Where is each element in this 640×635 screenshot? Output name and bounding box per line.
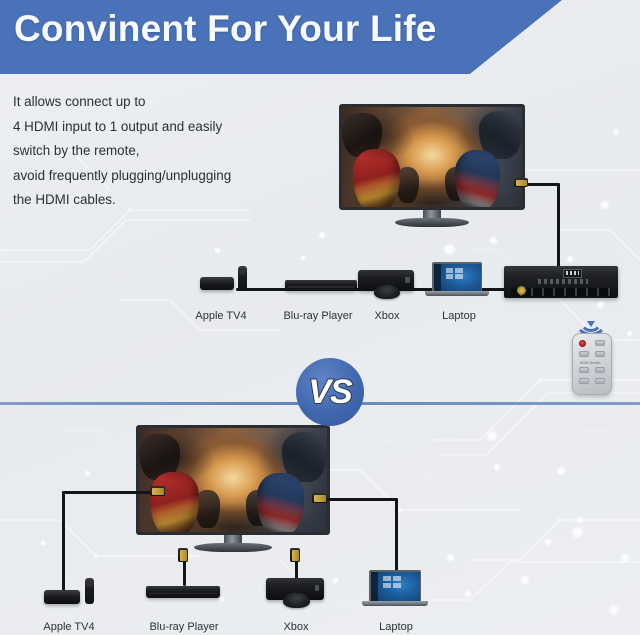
laptop-tile xyxy=(455,274,463,279)
wifi-signal-icon xyxy=(574,302,608,328)
laptop-taskbar xyxy=(434,264,442,291)
television-top xyxy=(339,104,525,228)
remote-button[interactable] xyxy=(595,378,605,384)
description-line: switch by the remote, xyxy=(13,139,333,164)
xbox-controller-icon xyxy=(283,593,310,608)
vs-badge: VS xyxy=(296,358,364,426)
laptop-tile xyxy=(446,274,454,279)
hdmi-cable-tv-to-switch xyxy=(557,183,560,267)
apple-tv-remote-icon xyxy=(85,578,94,604)
laptop-tile xyxy=(393,576,401,581)
hdmi-connector xyxy=(312,493,327,503)
laptop-tile xyxy=(446,268,454,273)
laptop-icon xyxy=(432,262,482,292)
bluray-player-icon xyxy=(146,586,220,598)
switch-silkscreen-text xyxy=(538,279,588,284)
hdmi-connector xyxy=(178,548,188,562)
hdmi-cable-laptop xyxy=(322,498,398,501)
hdmi-switch-box xyxy=(504,266,618,298)
remote-control[interactable]: HDMI Switch · · · · xyxy=(572,333,612,395)
laptop-tile xyxy=(393,583,401,588)
tv-frame xyxy=(136,425,330,535)
hdmi-connector xyxy=(514,178,528,187)
vs-label: VS xyxy=(308,375,351,409)
apple-tv-icon xyxy=(200,277,234,290)
xbox-controller-icon xyxy=(374,285,400,299)
hdmi-cable-laptop xyxy=(395,498,398,572)
page-title: Convinent For Your Life xyxy=(14,8,437,50)
switch-power-jack xyxy=(517,286,526,295)
description-line: the HDMI cables. xyxy=(13,188,333,213)
device-label-xbox: Xbox xyxy=(374,310,399,322)
device-label-laptop: Laptop xyxy=(379,621,413,633)
tv-screen xyxy=(139,428,327,532)
description-line: 4 HDMI input to 1 output and easily xyxy=(13,115,333,140)
remote-button[interactable] xyxy=(595,351,605,357)
description-line: It allows connect up to xyxy=(13,90,333,115)
laptop-base xyxy=(425,291,489,296)
tv-frame xyxy=(339,104,525,210)
remote-button[interactable] xyxy=(579,378,589,384)
tv-screen xyxy=(342,107,522,207)
device-label-bluray: Blu-ray Player xyxy=(283,310,352,322)
product-infographic: Convinent For Your Life It allows connec… xyxy=(0,0,640,635)
device-label-apple-tv: Apple TV4 xyxy=(195,310,246,322)
description-text: It allows connect up to 4 HDMI input to … xyxy=(13,90,333,213)
device-label-laptop: Laptop xyxy=(442,310,476,322)
laptop-screen xyxy=(371,572,420,601)
tv-stand-base xyxy=(395,218,469,227)
remote-button[interactable] xyxy=(579,351,589,357)
remote-power-button[interactable] xyxy=(579,340,586,347)
tv-stand-base xyxy=(194,543,272,552)
laptop-tile xyxy=(383,583,391,588)
device-label-bluray: Blu-ray Player xyxy=(149,621,218,633)
laptop-base xyxy=(362,601,428,606)
laptop-tile xyxy=(455,268,463,273)
switch-hdmi-ports xyxy=(511,288,611,296)
bluray-player-icon xyxy=(285,280,357,291)
remote-button[interactable] xyxy=(579,367,589,373)
apple-tv-icon xyxy=(44,590,80,604)
laptop-tile xyxy=(383,576,391,581)
description-line: avoid frequently plugging/unplugging xyxy=(13,164,333,189)
device-label-apple-tv: Apple TV4 xyxy=(43,621,94,633)
tv-scene-haze xyxy=(342,107,522,207)
laptop-taskbar xyxy=(371,572,379,601)
remote-button[interactable] xyxy=(595,340,605,346)
television-bottom xyxy=(136,425,330,553)
hdmi-cable-apple-tv xyxy=(62,491,152,494)
remote-brand-label: HDMI Switch xyxy=(580,361,601,365)
tv-scene-haze xyxy=(139,428,327,532)
device-label-xbox: Xbox xyxy=(283,621,308,633)
remote-button[interactable] xyxy=(595,367,605,373)
hdmi-cable-apple-tv xyxy=(62,491,65,594)
laptop-screen xyxy=(434,264,481,291)
laptop-icon xyxy=(369,570,421,602)
remote-footer-label: · · · · xyxy=(582,388,590,392)
apple-tv-remote-icon xyxy=(238,266,247,291)
hdmi-connector xyxy=(290,548,300,562)
switch-display xyxy=(563,269,581,277)
hdmi-connector xyxy=(150,486,165,496)
hdmi-cable-tv-to-switch xyxy=(524,183,560,186)
